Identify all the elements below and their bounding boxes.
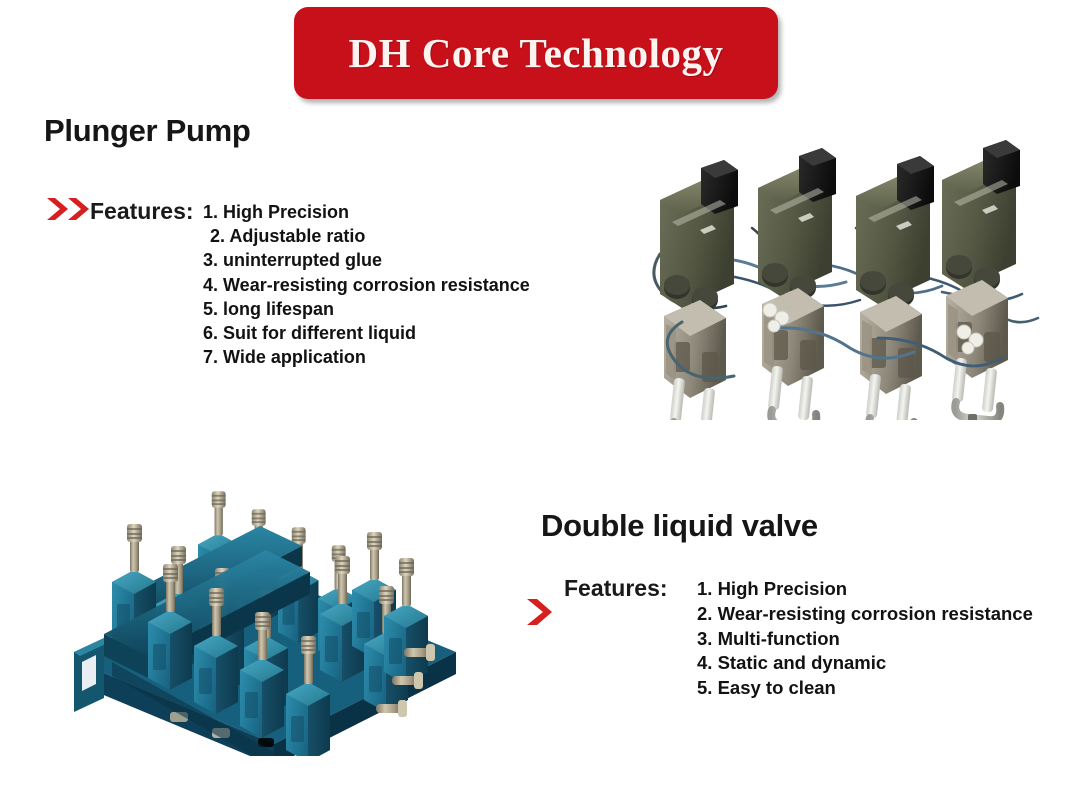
- features-label-plunger-pump: Features:: [90, 198, 194, 225]
- list-item: 7. Wide application: [203, 345, 530, 369]
- feature-list-plunger-pump: 1. High Precision 2. Adjustable ratio 3.…: [203, 200, 530, 369]
- plunger-pump-photo: [642, 132, 1044, 420]
- list-item: 5. Easy to clean: [697, 676, 1033, 701]
- double-chevron-right-icon: [45, 196, 91, 222]
- list-item: 4. Static and dynamic: [697, 651, 1033, 676]
- list-item: 5. long lifespan: [203, 297, 530, 321]
- feature-list-double-liquid-valve: 1. High Precision 2. Wear-resisting corr…: [697, 577, 1033, 701]
- list-item: 6. Suit for different liquid: [203, 321, 530, 345]
- list-item: 2. Adjustable ratio: [203, 224, 530, 248]
- slide-canvas: DH Core Technology Plunger Pump Features…: [0, 0, 1081, 800]
- list-item: 3. uninterrupted glue: [203, 248, 530, 272]
- list-item: 2. Wear-resisting corrosion resistance: [697, 602, 1033, 627]
- list-item: 4. Wear-resisting corrosion resistance: [203, 273, 530, 297]
- section-heading-plunger-pump: Plunger Pump: [44, 113, 251, 149]
- title-banner: DH Core Technology: [294, 7, 778, 99]
- features-label-double-liquid-valve: Features:: [564, 575, 668, 602]
- list-item: 3. Multi-function: [697, 627, 1033, 652]
- page-title: DH Core Technology: [349, 29, 724, 77]
- list-item: 1. High Precision: [697, 577, 1033, 602]
- section-heading-double-liquid-valve: Double liquid valve: [541, 508, 818, 544]
- chevron-right-icon: [524, 596, 554, 628]
- double-liquid-valve-photo: [52, 476, 482, 756]
- list-item: 1. High Precision: [203, 200, 530, 224]
